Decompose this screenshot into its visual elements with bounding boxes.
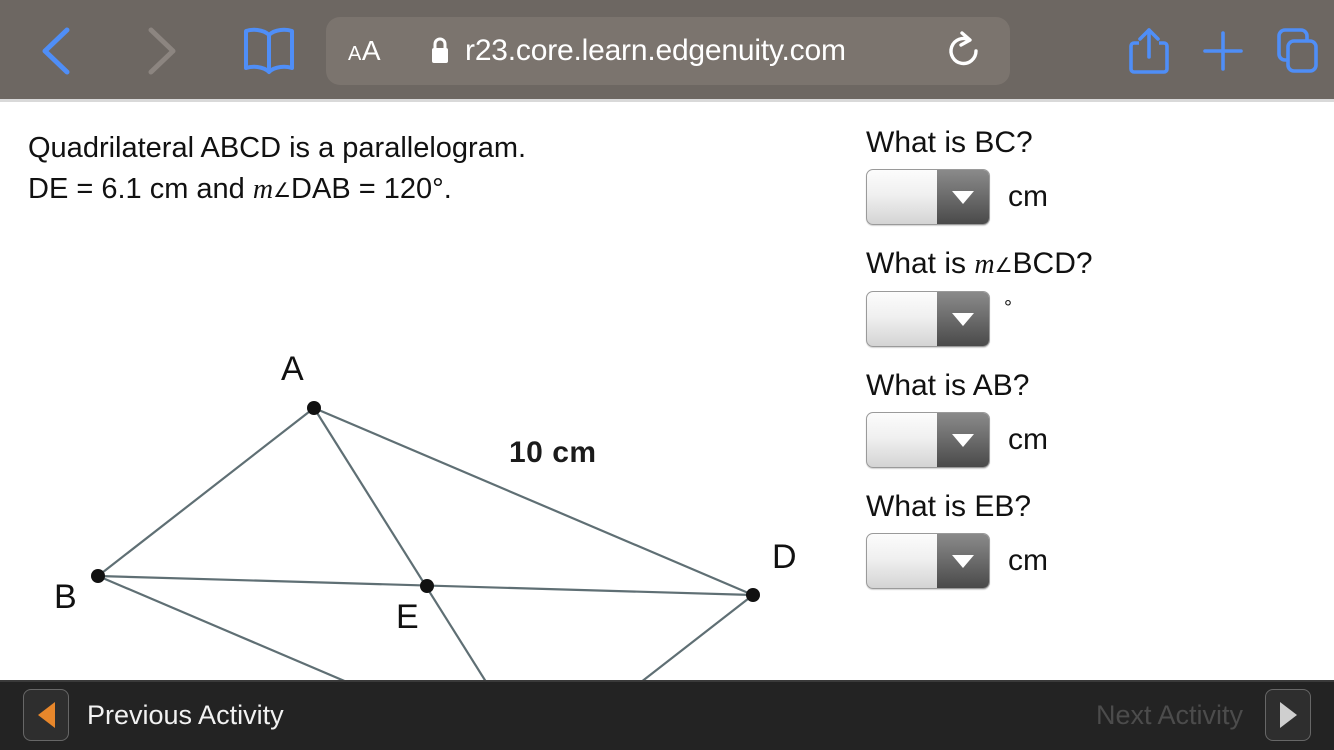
back-chevron-icon bbox=[37, 24, 77, 78]
figure-vertex-point-B bbox=[91, 569, 105, 583]
figure-edge-AB bbox=[98, 408, 314, 576]
figure-label-D: D bbox=[772, 538, 797, 577]
figure-label-B: B bbox=[54, 578, 77, 617]
previous-activity-label[interactable]: Previous Activity bbox=[87, 700, 284, 731]
book-icon bbox=[240, 26, 298, 76]
answer-dropdown-ab[interactable] bbox=[866, 412, 990, 468]
plus-icon bbox=[1197, 25, 1249, 77]
next-activity-group: Next Activity bbox=[1096, 689, 1311, 741]
measure-m-symbol-bcd: m bbox=[974, 249, 994, 280]
previous-activity-button[interactable] bbox=[23, 689, 69, 741]
figure-points bbox=[91, 401, 760, 680]
share-button[interactable] bbox=[1112, 16, 1186, 86]
bookmarks-button[interactable] bbox=[238, 20, 300, 82]
next-activity-label: Next Activity bbox=[1096, 700, 1243, 731]
unit-ab: cm bbox=[1008, 423, 1048, 457]
question-ab-row: cm bbox=[866, 412, 1326, 468]
question-bcd: What is m∠BCD? ° bbox=[866, 247, 1326, 347]
chevron-down-icon bbox=[937, 170, 989, 224]
answer-dropdown-eb-value bbox=[867, 534, 937, 588]
question-bc-text: What is BC? bbox=[866, 126, 1033, 159]
toolbar-right-actions bbox=[1112, 0, 1334, 102]
text-size-large-a: A bbox=[362, 35, 381, 67]
question-eb: What is EB? cm bbox=[866, 490, 1326, 589]
question-bc-label: What is BC? bbox=[866, 126, 1326, 160]
back-button[interactable] bbox=[26, 20, 88, 82]
unit-bcd: ° bbox=[1004, 297, 1012, 320]
question-bcd-row: ° bbox=[866, 291, 1326, 347]
angle-symbol-bcd: ∠ bbox=[995, 253, 1013, 277]
new-tab-button[interactable] bbox=[1186, 16, 1260, 86]
unit-bc: cm bbox=[1008, 180, 1048, 214]
question-ab-label: What is AB? bbox=[866, 369, 1326, 403]
questions-panel: What is BC? cm What is m∠BCD? ° bbox=[866, 102, 1326, 589]
figure-svg bbox=[0, 102, 860, 680]
answer-dropdown-bc-value bbox=[867, 170, 937, 224]
question-bcd-label: What is m∠BCD? bbox=[866, 247, 1326, 282]
chevron-down-icon bbox=[937, 413, 989, 467]
question-ab-text: What is AB? bbox=[866, 369, 1029, 402]
url-text: r23.core.learn.edgenuity.com bbox=[465, 34, 846, 68]
question-ab: What is AB? cm bbox=[866, 369, 1326, 468]
answer-dropdown-ab-value bbox=[867, 413, 937, 467]
question-eb-label: What is EB? bbox=[866, 490, 1326, 524]
question-eb-row: cm bbox=[866, 533, 1326, 589]
footer-divider bbox=[0, 680, 1334, 682]
figure-label-E: E bbox=[396, 598, 419, 637]
browser-page: AA r23.core.learn.edgenuity.com bbox=[0, 0, 1334, 750]
forward-chevron-icon bbox=[141, 24, 181, 78]
lesson-content: Quadrilateral ABCD is a parallelogram. D… bbox=[0, 102, 1334, 680]
figure-edge-BC bbox=[98, 576, 537, 680]
question-bcd-text-post: BCD? bbox=[1013, 247, 1093, 280]
figure-edge-CD bbox=[537, 595, 753, 680]
lock-icon bbox=[427, 35, 453, 67]
figure-vertex-point-A bbox=[307, 401, 321, 415]
answer-dropdown-eb[interactable] bbox=[866, 533, 990, 589]
forward-button[interactable] bbox=[130, 20, 192, 82]
reload-icon bbox=[944, 29, 984, 73]
question-eb-text: What is EB? bbox=[866, 490, 1031, 523]
chevron-down-icon bbox=[937, 292, 989, 346]
share-icon bbox=[1126, 24, 1172, 78]
next-activity-button[interactable] bbox=[1265, 689, 1311, 741]
geometry-figure: ABDE 10 cm5 cm bbox=[0, 102, 860, 680]
figure-edge-AC bbox=[314, 408, 537, 680]
answer-dropdown-bcd-value bbox=[867, 292, 937, 346]
figure-vertex-point-D bbox=[746, 588, 760, 602]
question-bc-row: cm bbox=[866, 169, 1326, 225]
reload-button[interactable] bbox=[944, 29, 984, 73]
tabs-icon bbox=[1271, 24, 1323, 78]
answer-dropdown-bcd[interactable] bbox=[866, 291, 990, 347]
figure-edges bbox=[98, 408, 753, 680]
figure-vertex-point-E bbox=[420, 579, 434, 593]
next-arrow-icon bbox=[1280, 702, 1297, 728]
previous-arrow-icon bbox=[38, 702, 55, 728]
browser-toolbar: AA r23.core.learn.edgenuity.com bbox=[0, 0, 1334, 102]
text-size-small-a: A bbox=[348, 43, 362, 66]
question-bc: What is BC? cm bbox=[866, 126, 1326, 225]
figure-label-A: A bbox=[281, 350, 304, 389]
activity-navigation-bar: Previous Activity Next Activity bbox=[0, 680, 1334, 750]
text-size-button[interactable]: AA bbox=[348, 35, 381, 67]
tabs-button[interactable] bbox=[1260, 16, 1334, 86]
address-bar[interactable]: AA r23.core.learn.edgenuity.com bbox=[326, 17, 1010, 85]
question-bcd-text-pre: What is bbox=[866, 247, 974, 280]
figure-measure-label-0: 10 cm bbox=[509, 436, 597, 470]
answer-dropdown-bc[interactable] bbox=[866, 169, 990, 225]
unit-eb: cm bbox=[1008, 544, 1048, 578]
chevron-down-icon bbox=[937, 534, 989, 588]
